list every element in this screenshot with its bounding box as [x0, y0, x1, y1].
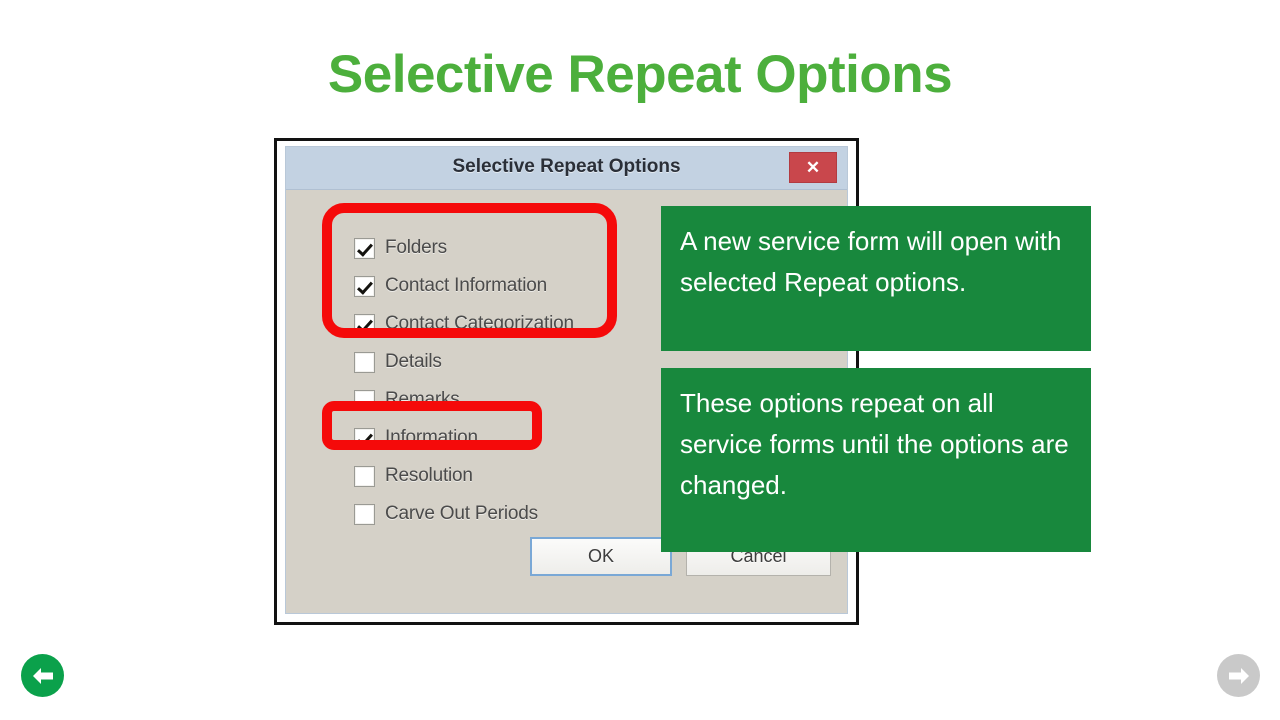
checkbox-contact-categorization[interactable] [354, 314, 375, 335]
option-label-details: Details [385, 351, 442, 373]
close-icon[interactable]: ✕ [789, 152, 837, 183]
callout-new-service-form: A new service form will open with select… [661, 206, 1091, 351]
option-label-carve-out-periods: Carve Out Periods [385, 503, 538, 525]
close-icon-glyph: ✕ [790, 153, 836, 182]
checkbox-carve-out-periods[interactable] [354, 504, 375, 525]
checkbox-contact-information[interactable] [354, 276, 375, 297]
ok-button[interactable]: OK [530, 537, 672, 576]
page-title: Selective Repeat Options [0, 44, 1280, 105]
option-label-resolution: Resolution [385, 465, 473, 487]
callout-options-repeat: These options repeat on all service form… [661, 368, 1091, 552]
checkbox-folders[interactable] [354, 238, 375, 259]
option-label-remarks: Remarks [385, 389, 460, 411]
back-arrow-icon[interactable] [21, 654, 64, 697]
checkbox-remarks[interactable] [354, 390, 375, 411]
option-label-folders: Folders [385, 237, 447, 259]
forward-arrow-icon [1217, 654, 1260, 697]
checkbox-resolution[interactable] [354, 466, 375, 487]
checkbox-information[interactable] [354, 428, 375, 449]
checkbox-details[interactable] [354, 352, 375, 373]
option-label-contact-information: Contact Information [385, 275, 547, 297]
dialog-titlebar: Selective Repeat Options ✕ [286, 147, 847, 190]
dialog-title: Selective Repeat Options [286, 156, 847, 178]
option-label-contact-categorization: Contact Categorization [385, 313, 574, 335]
option-label-information: Information [385, 427, 478, 449]
